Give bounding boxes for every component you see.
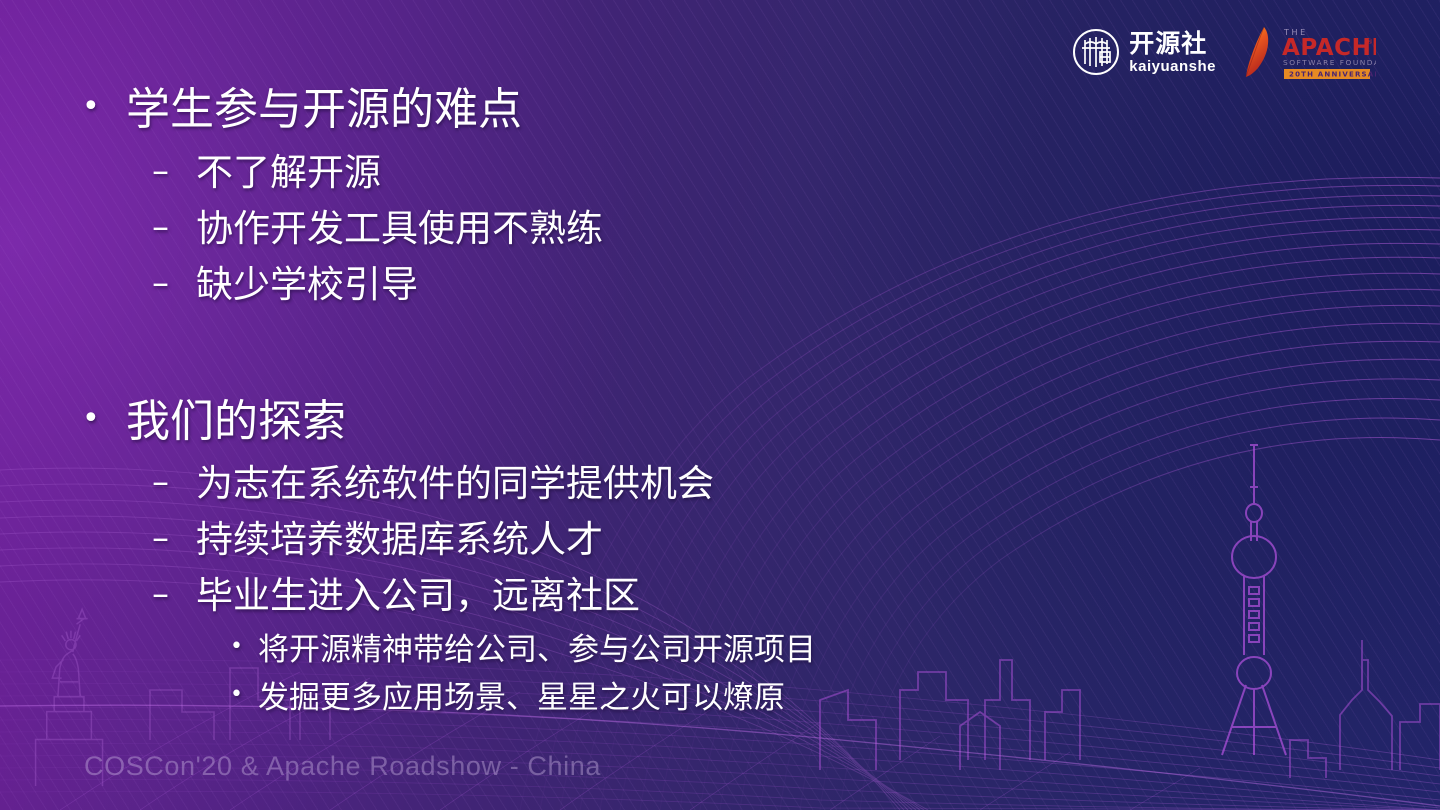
section-2-item-1: – 持续培养数据库系统人才 [152,516,603,563]
section-2-subitem-0-text: 将开源精神带给公司、参与公司开源项目 [258,630,816,670]
apache-foundation-label: SOFTWARE FOUNDATION [1283,58,1376,67]
section-2-heading: • 我们的探索 [82,396,346,448]
section-2-heading-text: 我们的探索 [126,396,346,448]
section-2-item-2: – 毕业生进入公司，远离社区 [152,572,640,619]
dash-icon: – [152,516,196,560]
section-2-item-2-text: 毕业生进入公司，远离社区 [196,572,640,619]
bullet-icon: • [230,678,258,712]
section-1-heading-text: 学生参与开源的难点 [126,84,522,136]
bullet-icon: • [230,630,258,664]
section-1-item-0-text: 不了解开源 [196,149,381,196]
section-2-item-0-text: 为志在系统软件的同学提供机会 [196,460,714,507]
section-1-item-0: – 不了解开源 [152,149,381,196]
kaiyuanshe-en-label: kaiyuanshe [1129,59,1216,74]
presentation-slide: 开源社 kaiyuanshe THE APACHE [0,0,1440,810]
section-2-subitem-1: • 发掘更多应用场景、星星之火可以燎原 [230,678,785,718]
dash-icon: – [152,460,196,504]
dash-icon: – [152,261,196,305]
footer-text: COSCon'20 & Apache Roadshow - China [84,751,601,782]
section-2-item-1-text: 持续培养数据库系统人才 [196,516,603,563]
section-1-item-2: – 缺少学校引导 [152,261,418,308]
section-1-item-1: – 协作开发工具使用不熟练 [152,205,603,252]
dash-icon: – [152,149,196,193]
section-1-item-1-text: 协作开发工具使用不熟练 [196,205,603,252]
section-1-heading: • 学生参与开源的难点 [82,84,522,136]
feather-icon [1246,27,1268,77]
section-1-item-2-text: 缺少学校引导 [196,261,418,308]
section-2-subitem-0: • 将开源精神带给公司、参与公司开源项目 [230,630,816,670]
dash-icon: – [152,205,196,249]
apache-anniversary-label: 20TH ANNIVERSARY [1289,71,1376,79]
logo-bar: 开源社 kaiyuanshe THE APACHE [1072,24,1376,80]
kaiyuanshe-cn-label: 开源社 [1129,31,1216,56]
section-2-subitem-1-text: 发掘更多应用场景、星星之火可以燎原 [258,678,785,718]
kaiyuanshe-logo: 开源社 kaiyuanshe [1072,28,1216,76]
apache-logo: THE APACHE ® SOFTWARE FOUNDATION 20TH AN… [1238,24,1376,80]
dash-icon: – [152,572,196,616]
right-navy-glow [820,0,1440,810]
apache-reg-mark: ® [1366,38,1373,46]
section-2-item-0: – 为志在系统软件的同学提供机会 [152,460,714,507]
bullet-icon: • [82,84,126,131]
bullet-icon: • [82,396,126,443]
circular-emblem-icon [1072,28,1120,76]
